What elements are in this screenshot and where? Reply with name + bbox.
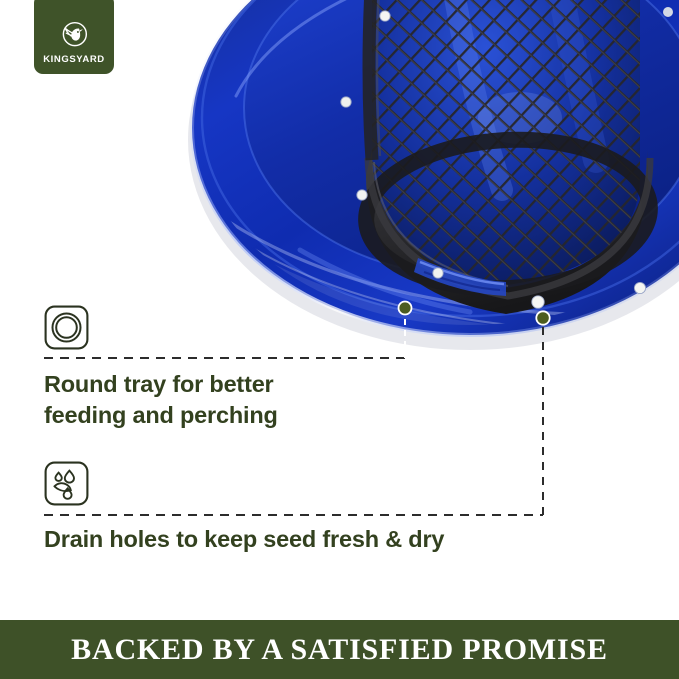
feature-icon-drain-holes: [44, 461, 89, 506]
promise-banner-text: BACKED BY A SATISFIED PROMISE: [71, 633, 608, 667]
promise-banner: BACKED BY A SATISFIED PROMISE: [0, 620, 679, 679]
feature-caption-drain-holes: Drain holes to keep seed fresh & dry: [44, 524, 564, 555]
feature-caption-round-tray: Round tray for better feeding and perchi…: [44, 369, 374, 431]
callout-dot-round-tray: [398, 301, 413, 316]
concentric-circles-icon: [44, 305, 89, 350]
feature-icon-round-tray: [44, 305, 89, 350]
bird-in-circle-icon: [57, 18, 91, 52]
brand-logo: KINGSYARD: [34, 0, 114, 74]
water-drops-icon: [44, 461, 89, 506]
brand-name: KINGSYARD: [43, 54, 105, 65]
callout-dot-drain-holes: [535, 310, 550, 325]
callout-line-round-tray: [44, 312, 405, 358]
infographic-canvas: KINGSYARD Round tr: [0, 0, 679, 679]
